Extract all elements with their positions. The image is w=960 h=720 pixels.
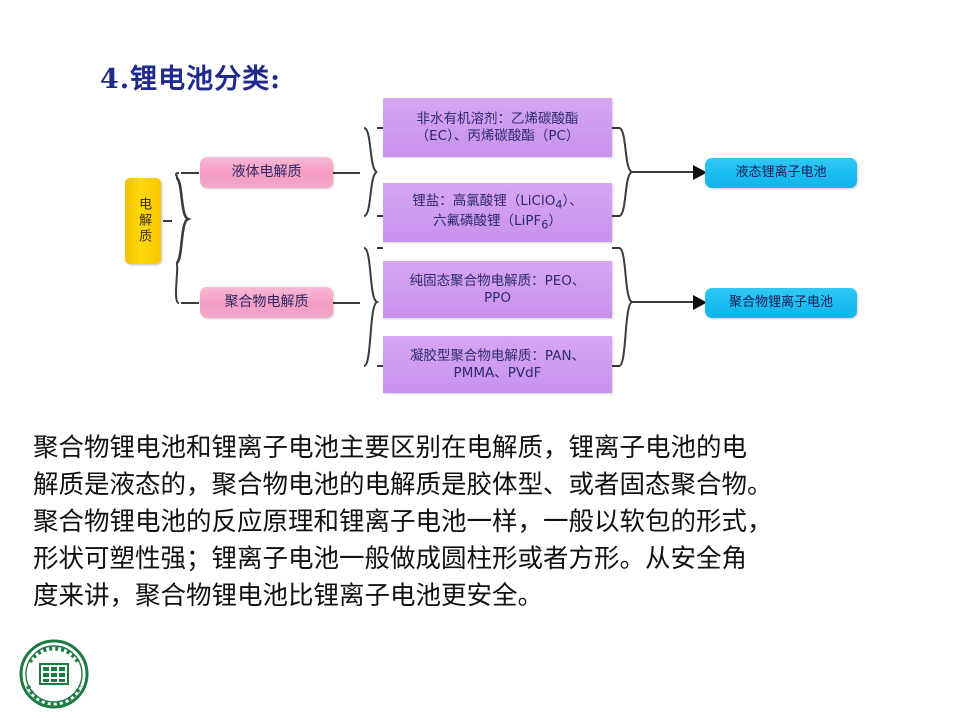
paragraph-line: 聚合物锂电池和锂离子电池主要区别在电解质，锂离子电池的电 [33,430,931,467]
detail-text-line: 凝胶型聚合物电解质：PAN、 [410,348,585,364]
body-paragraph: 聚合物锂电池和锂离子电池主要区别在电解质，锂离子电池的电 解质是液态的，聚合物电… [33,430,931,615]
paragraph-line: 解质是液态的，聚合物电池的电解质是胶体型、或者固态聚合物。 [33,467,931,504]
detail-text-line: ） [548,213,562,229]
node-electrolyte-root[interactable]: 电解质 [125,178,161,264]
subscript-4: 4 [555,198,562,211]
detail-text-line: 纯固态聚合物电解质：PEO、 [410,273,586,289]
result-box-polymer-li-ion-battery[interactable]: 聚合物锂离子电池 [705,288,857,318]
detail-text-line: 非水有机溶剂：乙烯碳酸酯 [417,111,579,127]
detail-box-solid-polymer[interactable]: 纯固态聚合物电解质：PEO、 PPO [383,261,612,318]
detail-text-line: （EC）、丙烯碳酸酯（PC） [416,128,580,144]
circular-seal-logo [18,638,90,710]
detail-text-line: PMMA、PVdF [454,365,542,381]
slide-canvas: 4.锂电池分类: [0,0,960,720]
detail-text-line: 六氟磷酸锂（LiPF [433,213,541,229]
paragraph-line: 度来讲，聚合物锂电池比锂离子电池更安全。 [33,578,931,615]
node-polymer-electrolyte[interactable]: 聚合物电解质 [200,287,333,318]
detail-text-line: 锂盐：高氯酸锂（LiClO [412,193,555,209]
paragraph-line: 形状可塑性强；锂离子电池一般做成圆柱形或者方形。从安全角 [33,541,931,578]
node-liquid-electrolyte[interactable]: 液体电解质 [200,157,333,188]
detail-box-gel-polymer[interactable]: 凝胶型聚合物电解质：PAN、 PMMA、PVdF [383,336,612,393]
detail-text-line: PPO [484,290,511,306]
paragraph-line: 聚合物锂电池的反应原理和锂离子电池一样，一般以软包的形式， [33,504,931,541]
result-box-liquid-li-ion-battery[interactable]: 液态锂离子电池 [705,158,857,188]
detail-text-line: ）、 [563,193,583,209]
detail-box-lithium-salt[interactable]: 锂盐：高氯酸锂（LiClO4）、 六氟磷酸锂（LiPF6） [383,183,612,242]
detail-box-organic-solvent[interactable]: 非水有机溶剂：乙烯碳酸酯 （EC）、丙烯碳酸酯（PC） [383,98,612,157]
